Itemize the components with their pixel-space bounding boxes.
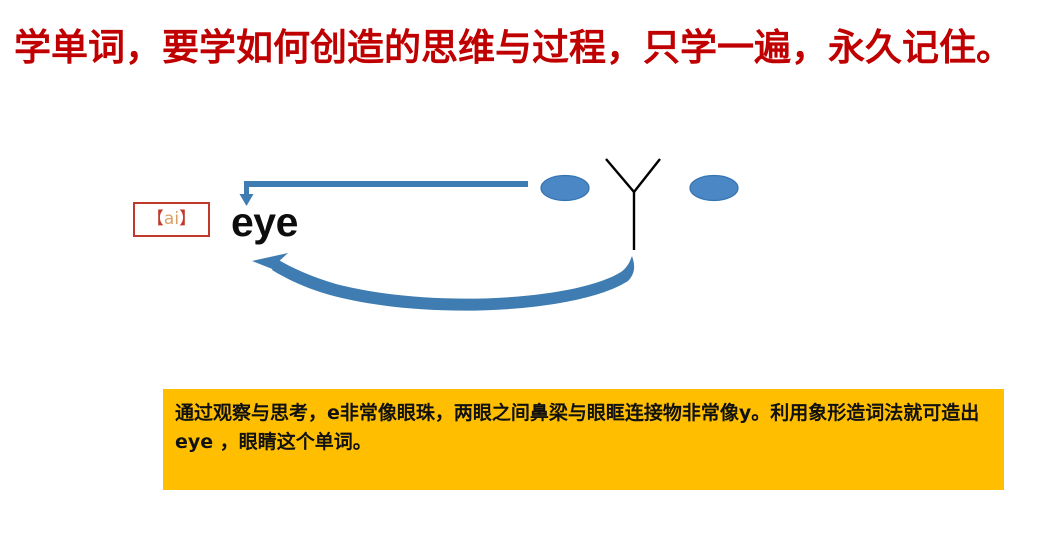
bottom-curved-arrow [252, 253, 634, 311]
eye-mnemonic-diagram: 【ai】 eye [0, 0, 1046, 300]
phonetic-close-bracket: 】 [179, 209, 196, 229]
phonetic-transcription-box: 【ai】 [133, 202, 210, 237]
phonetic-value: ai [164, 209, 179, 229]
y-shape-nose-bridge [606, 159, 660, 250]
word-eye-label: eye [231, 200, 298, 244]
caption-line-1: 通过观察与思考，e非常像眼珠，两眼之间鼻梁与眼眶连接物非常像y。利用象 [175, 402, 827, 424]
right-eye-ellipse [690, 176, 738, 201]
left-eye-ellipse [541, 176, 589, 201]
caption-box: 通过观察与思考，e非常像眼珠，两眼之间鼻梁与眼眶连接物非常像y。利用象形造词法就… [163, 389, 1004, 490]
caption-text: 通过观察与思考，e非常像眼珠，两眼之间鼻梁与眼眶连接物非常像y。利用象形造词法就… [175, 399, 990, 457]
phonetic-open-bracket: 【 [147, 209, 164, 229]
diagram-canvas [0, 0, 1046, 340]
